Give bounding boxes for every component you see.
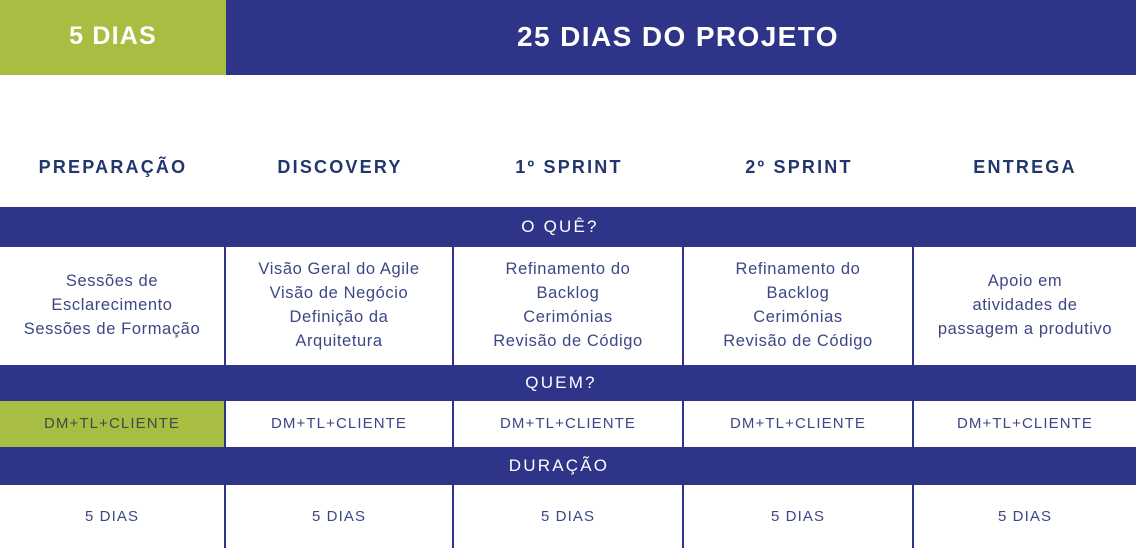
phase-header-sprint-1: 1º SPRINT	[454, 75, 684, 207]
phase-header-sprint-2: 2º SPRINT	[684, 75, 914, 207]
cell-duracao-discovery: 5 DIAS	[226, 485, 454, 548]
cell-quem-preparacao: DM+TL+CLIENTE	[0, 401, 226, 447]
top-header: 5 DIAS 25 DIAS DO PROJETO	[0, 0, 1136, 75]
cell-quem-entrega: DM+TL+CLIENTE	[914, 401, 1136, 447]
project-title-bar: 25 DIAS DO PROJETO	[226, 0, 1136, 75]
cell-text: DM+TL+CLIENTE	[500, 413, 636, 435]
section-row-o-que: Sessões de Esclarecimento Sessões de For…	[0, 247, 1136, 365]
project-title: 25 DIAS DO PROJETO	[517, 21, 839, 53]
cell-o-que-sprint-2: Refinamento do Backlog Cerimónias Revisã…	[684, 247, 914, 365]
cell-quem-sprint-2: DM+TL+CLIENTE	[684, 401, 914, 447]
cell-o-que-discovery: Visão Geral do Agile Visão de Negócio De…	[226, 247, 454, 365]
phase-header-row: PREPARAÇÃO DISCOVERY 1º SPRINT 2º SPRINT…	[0, 75, 1136, 207]
cell-text: 5 DIAS	[541, 506, 595, 528]
cell-text: Refinamento do Backlog Cerimónias Revisã…	[493, 258, 643, 354]
days-badge-label: 5 DIAS	[69, 22, 157, 51]
phase-header-label: 2º SPRINT	[745, 157, 852, 178]
section-band-duracao: DURAÇÃO	[0, 447, 1136, 485]
cell-text: Apoio em atividades de passagem a produt…	[938, 270, 1112, 342]
section-row-quem: DM+TL+CLIENTE DM+TL+CLIENTE DM+TL+CLIENT…	[0, 401, 1136, 447]
section-band-o-que: O QUÊ?	[0, 207, 1136, 247]
cell-o-que-entrega: Apoio em atividades de passagem a produt…	[914, 247, 1136, 365]
section-band-quem: QUEM?	[0, 365, 1136, 401]
cell-text: 5 DIAS	[312, 506, 366, 528]
cell-text: Refinamento do Backlog Cerimónias Revisã…	[723, 258, 873, 354]
cell-text: DM+TL+CLIENTE	[730, 413, 866, 435]
phase-header-label: 1º SPRINT	[515, 157, 622, 178]
phase-header-discovery: DISCOVERY	[226, 75, 454, 207]
phase-header-label: PREPARAÇÃO	[39, 157, 188, 178]
cell-text: Visão Geral do Agile Visão de Negócio De…	[258, 258, 419, 354]
cell-text: DM+TL+CLIENTE	[957, 413, 1093, 435]
section-band-label: QUEM?	[525, 373, 596, 393]
cell-o-que-sprint-1: Refinamento do Backlog Cerimónias Revisã…	[454, 247, 684, 365]
section-row-duracao: 5 DIAS 5 DIAS 5 DIAS 5 DIAS 5 DIAS	[0, 485, 1136, 548]
cell-text: DM+TL+CLIENTE	[271, 413, 407, 435]
phase-header-label: ENTREGA	[973, 157, 1076, 178]
cell-duracao-preparacao: 5 DIAS	[0, 485, 226, 548]
cell-quem-discovery: DM+TL+CLIENTE	[226, 401, 454, 447]
phase-header-entrega: ENTREGA	[914, 75, 1136, 207]
section-band-label: O QUÊ?	[521, 217, 598, 237]
days-badge: 5 DIAS	[0, 0, 226, 75]
cell-duracao-sprint-2: 5 DIAS	[684, 485, 914, 548]
cell-text: DM+TL+CLIENTE	[44, 413, 180, 435]
cell-text: Sessões de Esclarecimento Sessões de For…	[24, 270, 200, 342]
project-timeline-board: 5 DIAS 25 DIAS DO PROJETO PREPARAÇÃO DIS…	[0, 0, 1136, 553]
cell-text: 5 DIAS	[85, 506, 139, 528]
cell-quem-sprint-1: DM+TL+CLIENTE	[454, 401, 684, 447]
section-band-label: DURAÇÃO	[509, 456, 609, 476]
cell-duracao-entrega: 5 DIAS	[914, 485, 1136, 548]
cell-text: 5 DIAS	[771, 506, 825, 528]
cell-duracao-sprint-1: 5 DIAS	[454, 485, 684, 548]
cell-text: 5 DIAS	[998, 506, 1052, 528]
cell-o-que-preparacao: Sessões de Esclarecimento Sessões de For…	[0, 247, 226, 365]
phase-header-label: DISCOVERY	[277, 157, 402, 178]
phase-header-preparacao: PREPARAÇÃO	[0, 75, 226, 207]
